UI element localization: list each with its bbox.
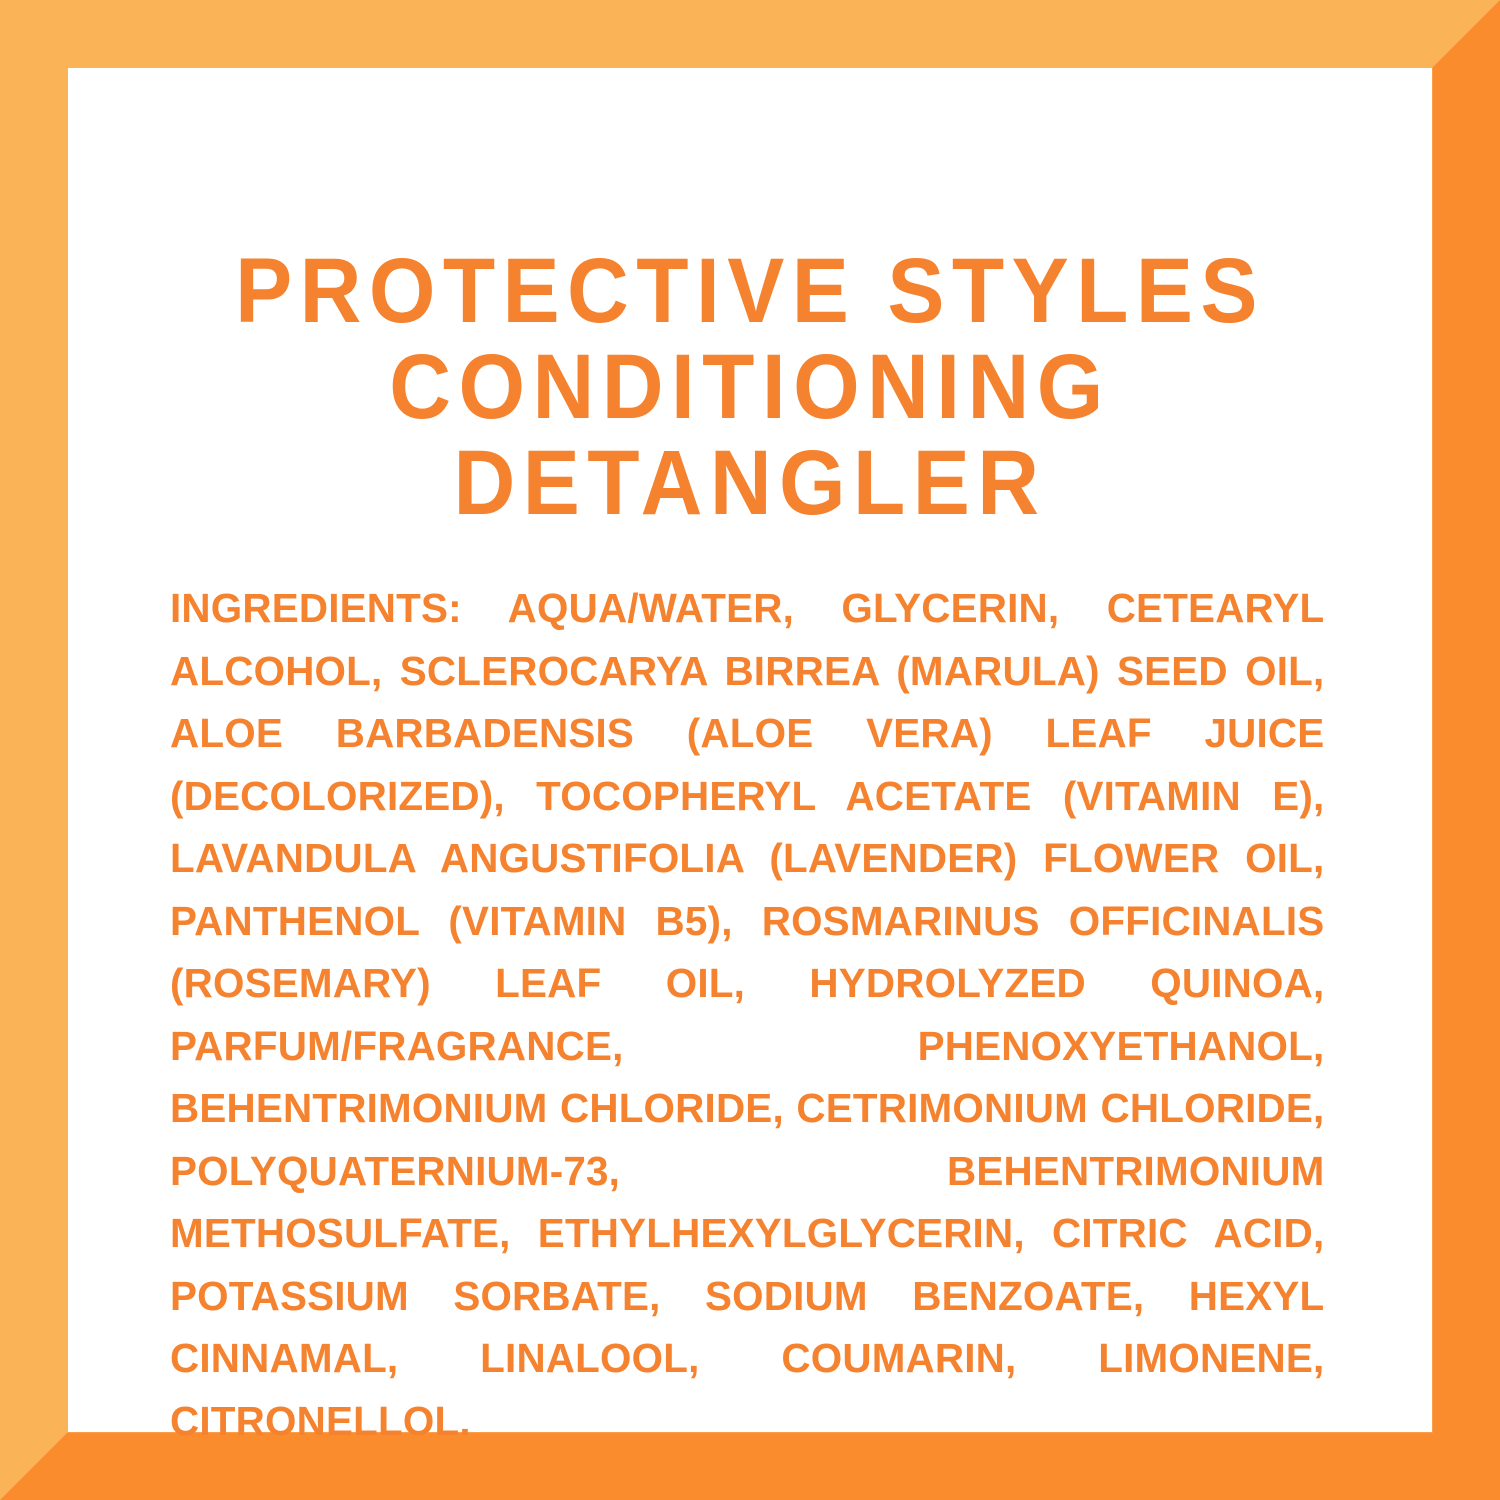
label-card: PROTECTIVE STYLES CONDITIONING DETANGLER…	[68, 68, 1432, 1432]
product-title: PROTECTIVE STYLES CONDITIONING DETANGLER	[116, 243, 1385, 531]
product-label-frame: PROTECTIVE STYLES CONDITIONING DETANGLER…	[0, 0, 1500, 1500]
product-title-line-2: CONDITIONING	[116, 339, 1385, 435]
ingredients-list: INGREDIENTS: AQUA/WATER, GLYCERIN, CETEA…	[170, 577, 1324, 1452]
product-title-line-1: PROTECTIVE STYLES	[116, 243, 1385, 339]
product-title-line-3: DETANGLER	[116, 435, 1385, 531]
